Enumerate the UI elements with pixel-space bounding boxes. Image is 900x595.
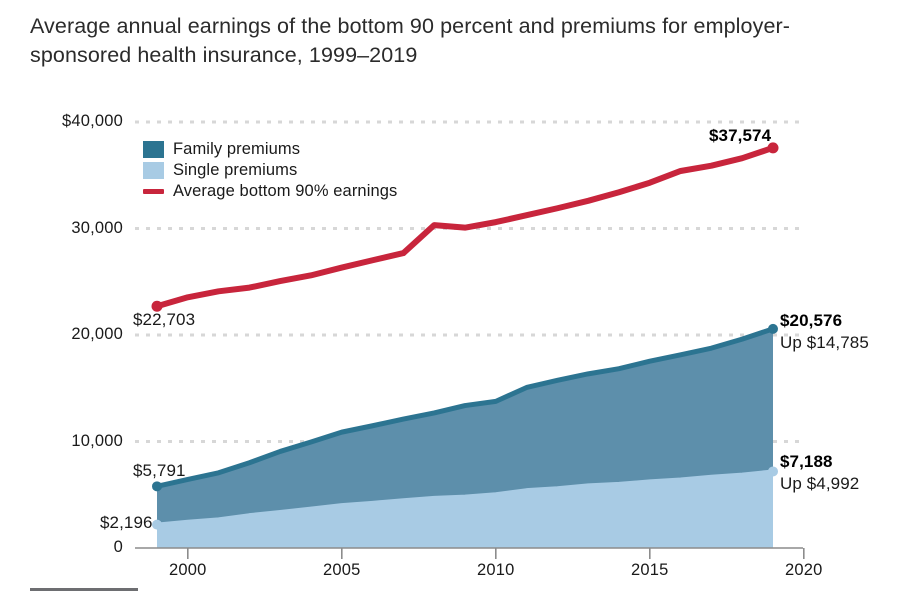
annotation-single-end: $7,188 [780, 452, 859, 472]
x-axis-tick-label: 2020 [764, 561, 844, 580]
footer-divider [30, 588, 138, 591]
legend-swatch-family-icon [143, 141, 164, 158]
annotation-single-end-group: $7,188 Up $4,992 [780, 452, 859, 494]
legend-item-family-premiums[interactable]: Family premiums [143, 139, 397, 159]
x-axis-tick-label: 2005 [302, 561, 382, 580]
legend-label-family: Family premiums [173, 140, 300, 159]
legend-line-earnings-icon [143, 189, 164, 194]
annotation-family-end: $20,576 [780, 311, 869, 331]
legend-label-single: Single premiums [173, 161, 297, 180]
annotation-single-start: $2,196 [100, 513, 153, 533]
x-axis-tick-label: 2000 [148, 561, 228, 580]
y-axis-tick-label: 10,000 [13, 432, 123, 451]
y-axis-tick-label: $40,000 [13, 112, 123, 131]
y-axis-tick-label: 0 [13, 538, 123, 557]
legend-swatch-single-icon [143, 162, 164, 179]
annotation-family-change: Up $14,785 [780, 333, 869, 353]
chart-page: Average annual earnings of the bottom 90… [0, 0, 900, 595]
x-axis-tick-label: 2010 [456, 561, 536, 580]
annotation-earnings-end: $37,574 [709, 126, 771, 146]
annotation-family-end-group: $20,576 Up $14,785 [780, 311, 869, 353]
annotation-earnings-start: $22,703 [133, 310, 195, 330]
annotation-single-change: Up $4,992 [780, 474, 859, 494]
y-axis-tick-label: 30,000 [13, 219, 123, 238]
axis-bottom [135, 548, 804, 559]
legend-label-earnings: Average bottom 90% earnings [173, 182, 397, 201]
chart-svg [0, 0, 900, 595]
legend-item-single-premiums[interactable]: Single premiums [143, 160, 397, 180]
annotation-family-start: $5,791 [133, 461, 186, 481]
chart-legend: Family premiums Single premiums Average … [143, 139, 397, 202]
legend-item-average-earnings[interactable]: Average bottom 90% earnings [143, 181, 397, 201]
y-axis-tick-label: 20,000 [13, 325, 123, 344]
chart-canvas: 010,00020,00030,000$40,000 2000200520102… [0, 0, 900, 595]
x-axis-tick-label: 2015 [610, 561, 690, 580]
